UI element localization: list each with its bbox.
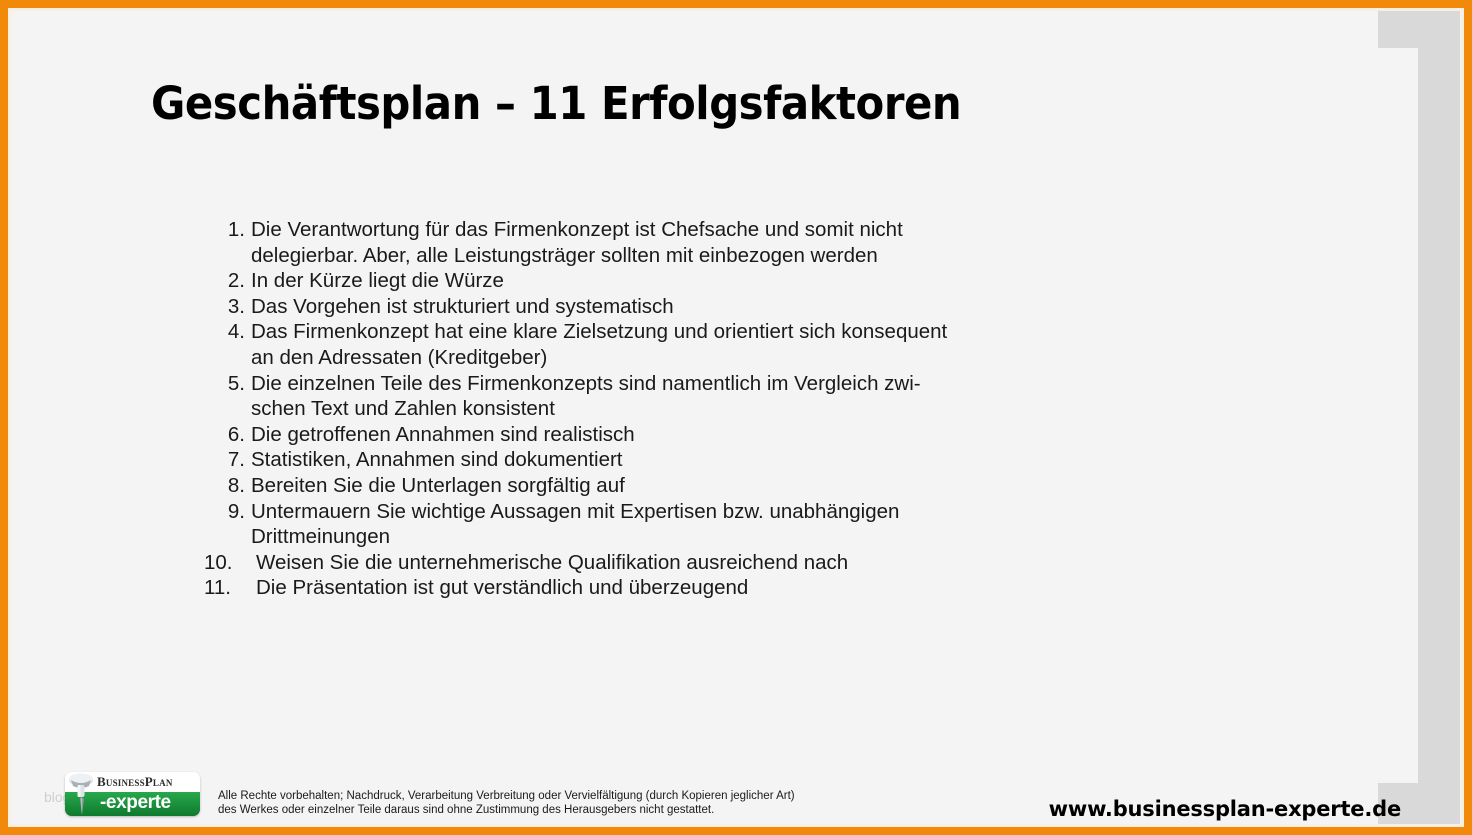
success-factor-text: Das Firmenkonzept hat eine klare Zielset… [251,319,1113,370]
success-factor-item: 8.Bereiten Sie die Unterlagen sorgfältig… [193,473,1113,499]
success-factor-item: 3.Das Vorgehen ist strukturiert und syst… [193,294,1113,320]
success-factors-list: 1.Die Verantwortung für das Firmenkonzep… [193,217,1113,601]
slide-title: Geschäftsplan – 11 Erfolgsfaktoren [151,77,961,130]
success-factor-number: 2. [193,268,251,294]
success-factor-number: 4. [193,319,251,345]
businessplan-experte-logo[interactable]: blog BusinessPlan -experte [54,772,200,816]
success-factor-text: Das Vorgehen ist strukturiert und system… [251,294,1113,320]
success-factor-number: 5. [193,371,251,397]
success-factor-item: 11.Die Präsentation ist gut verständlich… [193,575,1113,601]
success-factor-number: 1. [193,217,251,243]
success-factor-number: 9. [193,499,251,525]
success-factor-number: 10. [193,550,256,576]
copyright-notice: Alle Rechte vorbehalten; Nachdruck, Vera… [218,790,878,817]
success-factor-text: Bereiten Sie die Unterlagen sorgfältig a… [251,473,1113,499]
success-factor-item: 6.Die getroffenen Annahmen sind realisti… [193,422,1113,448]
success-factor-text: Die getroffenen Annahmen sind realistisc… [251,422,1113,448]
pushpin-icon [60,773,100,816]
success-factor-number: 7. [193,447,251,473]
success-factor-number: 11. [193,575,256,601]
success-factor-item: 9.Untermauern Sie wichtige Aussagen mit … [193,499,1113,550]
presentation-slide: Geschäftsplan – 11 Erfolgsfaktoren 1.Die… [0,0,1472,835]
success-factor-number: 6. [193,422,251,448]
success-factor-item: 7.Statistiken, Annahmen sind dokumentier… [193,447,1113,473]
success-factor-item: 1.Die Verantwortung für das Firmenkonzep… [193,217,1113,268]
website-url[interactable]: www.businessplan-experte.de [1049,797,1401,821]
success-factor-item: 2.In der Kürze liegt die Würze [193,268,1113,294]
success-factor-text: Untermauern Sie wichtige Aussagen mit Ex… [251,499,1113,550]
success-factor-text: Statistiken, Annahmen sind dokumentiert [251,447,1113,473]
logo-word-experte: -experte [100,792,171,814]
success-factor-text: Die Präsentation ist gut verständlich un… [256,575,1113,601]
success-factor-text: Weisen Sie die unternehmerische Qualifik… [256,550,1113,576]
success-factor-item: 5.Die einzelnen Teile des Firmenkonzepts… [193,371,1113,422]
logo-word-businessplan: BusinessPlan [97,774,173,790]
success-factor-item: 10.Weisen Sie die unternehmerische Quali… [193,550,1113,576]
success-factor-number: 8. [193,473,251,499]
success-factor-text: Die einzelnen Teile des Firmenkonzepts s… [251,371,1113,422]
success-factor-text: Die Verantwortung für das Firmenkonzept … [251,217,1113,268]
success-factor-text: In der Kürze liegt die Würze [251,268,1113,294]
slide-canvas: Geschäftsplan – 11 Erfolgsfaktoren 1.Die… [11,11,1461,824]
success-factor-number: 3. [193,294,251,320]
right-band-spine [1418,11,1460,824]
success-factor-item: 4.Das Firmenkonzept hat eine klare Ziels… [193,319,1113,370]
